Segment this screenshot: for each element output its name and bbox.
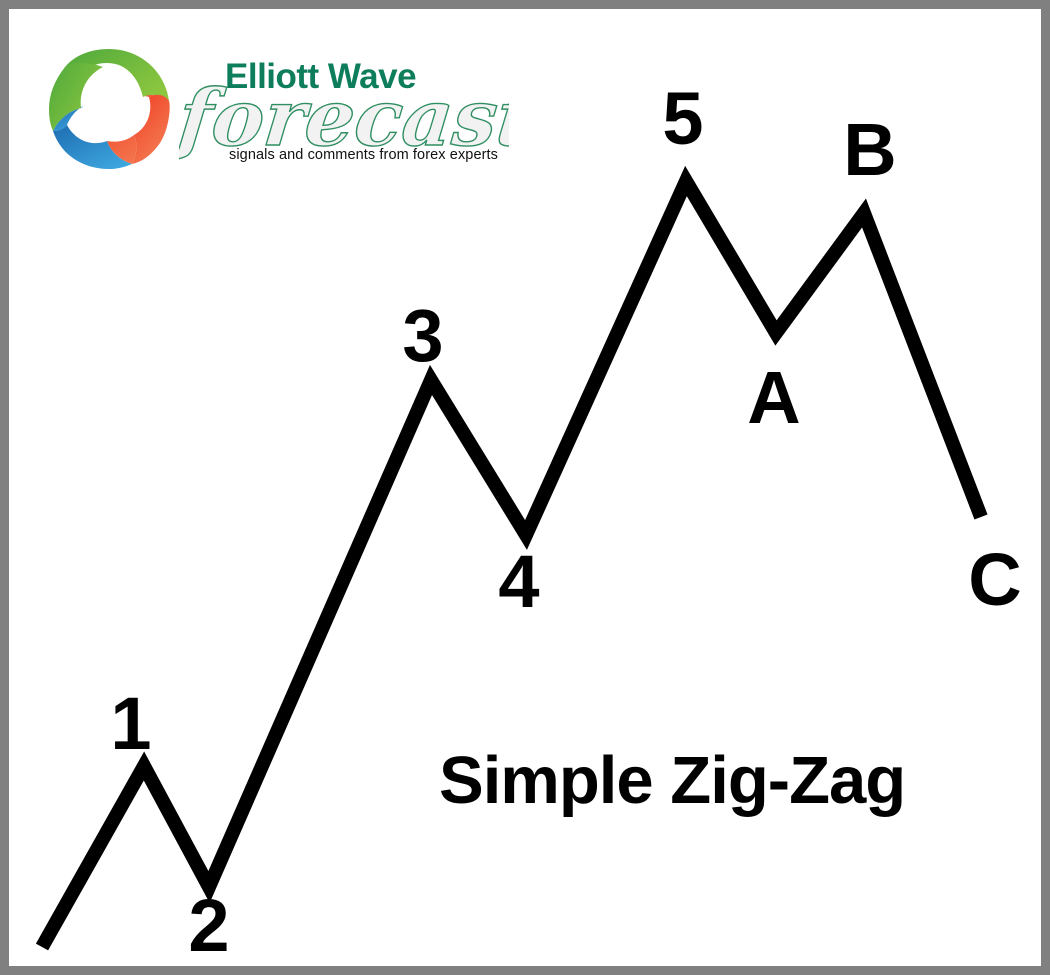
wave-label-3: 3 bbox=[402, 299, 443, 373]
wave-label-5: 5 bbox=[662, 82, 703, 156]
chart-title: Simple Zig-Zag bbox=[439, 747, 905, 814]
brand-logo[interactable]: Elliott Wave forecast signals and commen… bbox=[45, 43, 485, 173]
triple-swirl-logo-icon bbox=[45, 45, 173, 173]
wave-label-c: C bbox=[968, 543, 1021, 617]
wave-label-a: A bbox=[747, 361, 800, 435]
wave-label-2: 2 bbox=[188, 889, 229, 963]
logo-swirl-red bbox=[132, 95, 170, 164]
logo-inner-swirl bbox=[83, 83, 135, 135]
diagram-page: 12345ABC Simple Zig-Zag bbox=[0, 0, 1050, 975]
wave-label-4: 4 bbox=[498, 545, 539, 619]
wave-label-b: B bbox=[843, 113, 896, 187]
wave-diagram-canvas: 12345ABC Simple Zig-Zag bbox=[9, 9, 1050, 975]
brand-tagline: signals and comments from forex experts bbox=[229, 147, 498, 163]
wave-label-1: 1 bbox=[110, 687, 151, 761]
brand-text-block: Elliott Wave forecast signals and commen… bbox=[177, 43, 487, 173]
